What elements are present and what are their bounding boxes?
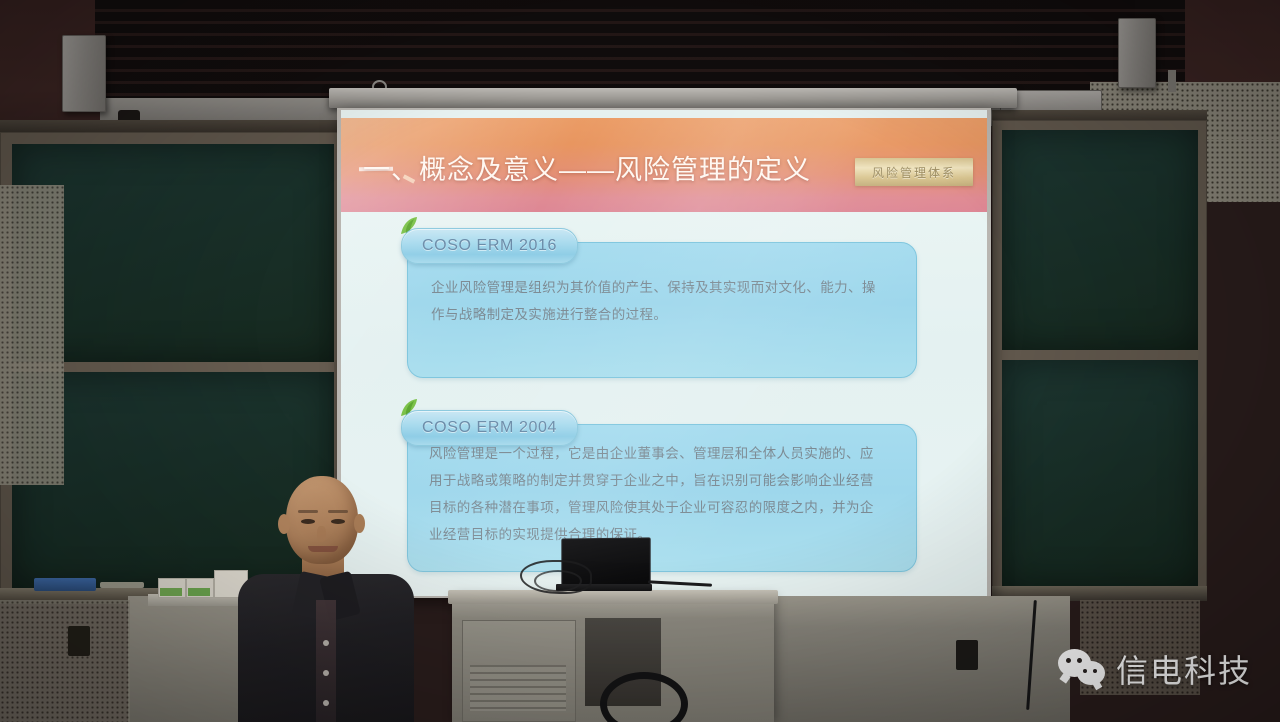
blackboard-right-divider	[1002, 350, 1198, 360]
cable-bundle-inner	[534, 570, 582, 592]
page-title: 一、概念及意义——风险管理的定义	[363, 148, 883, 187]
projector-mount-arm	[1168, 70, 1176, 92]
chalk-stick	[100, 582, 144, 588]
presenter-button-2	[323, 670, 329, 676]
panel-2-tab-label: COSO ERM 2004	[422, 419, 557, 437]
presenter-eye-left	[301, 519, 315, 524]
wechat-icon	[1058, 649, 1106, 689]
front-panel-left	[0, 600, 130, 722]
acoustic-panel-left-tall	[0, 185, 64, 485]
blackboard-right-upper	[1002, 130, 1198, 350]
podium-worktop	[448, 590, 778, 604]
presenter	[228, 470, 448, 722]
shelf-item-green-2	[188, 588, 210, 596]
presenter-mouth	[308, 546, 338, 552]
presenter-brow-right	[328, 510, 348, 513]
presenter-button-3	[323, 700, 329, 706]
wall-socket-right	[956, 640, 978, 670]
counter-right	[770, 596, 1070, 722]
wechat-bubble-small	[1077, 661, 1105, 685]
wall-socket-left	[68, 626, 90, 656]
shelf-item-green-1	[160, 588, 182, 596]
presenter-eye-right	[331, 519, 345, 524]
presenter-ear-left	[278, 514, 290, 534]
wechat-watermark: 信电科技	[1058, 640, 1258, 698]
presenter-button-1	[323, 640, 329, 646]
chalk-box	[34, 578, 96, 591]
panel-1-text: 企业风险管理是组织为其价值的产生、保持及其实现而对文化、能力、操作与战略制定及实…	[431, 274, 887, 328]
panel-1-tab-label: COSO ERM 2016	[422, 237, 557, 255]
projection-screen-roller	[329, 88, 1017, 108]
panel-1-tab: COSO ERM 2016	[401, 228, 578, 264]
speaker-right	[1118, 18, 1156, 88]
watermark-text: 信电科技	[1116, 646, 1252, 692]
panel-2-text: 风险管理是一个过程，它是由企业董事会、管理层和全体人员实施的、应用于战略或策略的…	[429, 440, 885, 548]
presenter-brow-left	[298, 510, 318, 513]
slide-badge-label: 风险管理体系	[872, 164, 956, 181]
presenter-nose	[317, 526, 326, 542]
blackboard-right-lower	[1002, 360, 1198, 588]
presenter-ear-right	[354, 514, 365, 533]
speaker-left	[62, 35, 106, 112]
podium-vent	[470, 665, 566, 711]
screenshot-root: 风险管理体系 一、概念及意义——风险管理的定义 COSO ERM 2016 企业…	[0, 0, 1280, 722]
